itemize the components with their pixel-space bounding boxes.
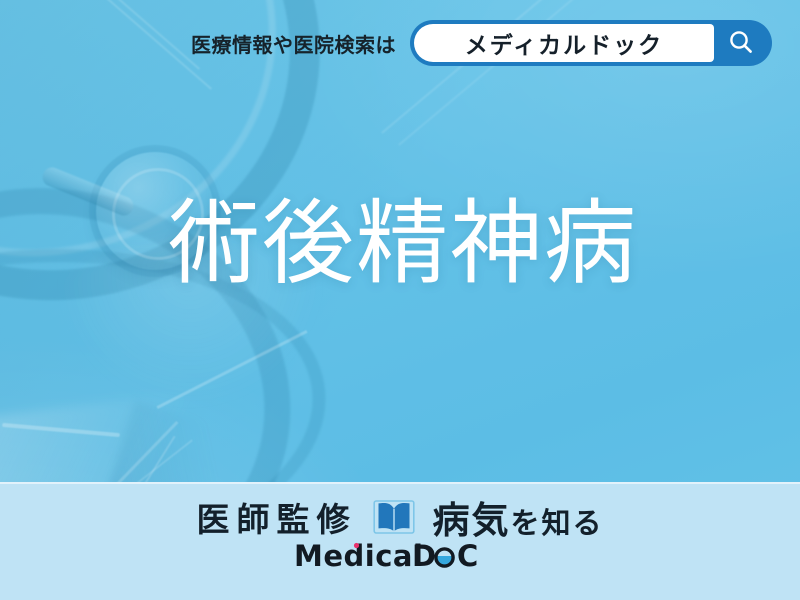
tagline-primary: 病気 (432, 490, 510, 544)
svg-text:C: C (457, 539, 480, 573)
search-input-value: メディカルドック (465, 26, 663, 60)
header-bar: 医療情報や医院検索は メディカルドック (0, 0, 800, 86)
banner-tagline: 病気 を 知る (432, 490, 603, 544)
page-title: 術後精神病 (168, 196, 638, 294)
banner-divider (0, 482, 800, 484)
page-title-container: 術後精神病 (0, 196, 800, 294)
search-icon (727, 28, 755, 59)
search-bar[interactable]: メディカルドック (410, 20, 772, 66)
open-book-icon (372, 498, 416, 536)
svg-text:Medical: Medical (294, 539, 423, 573)
bottom-banner: 医師監修 病気 を 知る Medical D (0, 482, 800, 600)
site-logo-text: Medical D C (294, 539, 506, 575)
svg-text:D: D (412, 539, 438, 573)
search-button[interactable] (714, 24, 768, 62)
tagline-secondary: 知る (542, 500, 604, 542)
supervision-label: 医師監修 (196, 493, 356, 541)
site-logo[interactable]: Medical D C (0, 539, 800, 580)
header-label: 医療情報や医院検索は (191, 29, 396, 58)
page-root: 医療情報や医院検索は メディカルドック 術後精神病 医師監修 (0, 0, 800, 600)
banner-tagline-row: 医師監修 病気 を 知る (0, 490, 800, 544)
search-input[interactable]: メディカルドック (414, 24, 714, 62)
tagline-particle: を (510, 500, 541, 542)
